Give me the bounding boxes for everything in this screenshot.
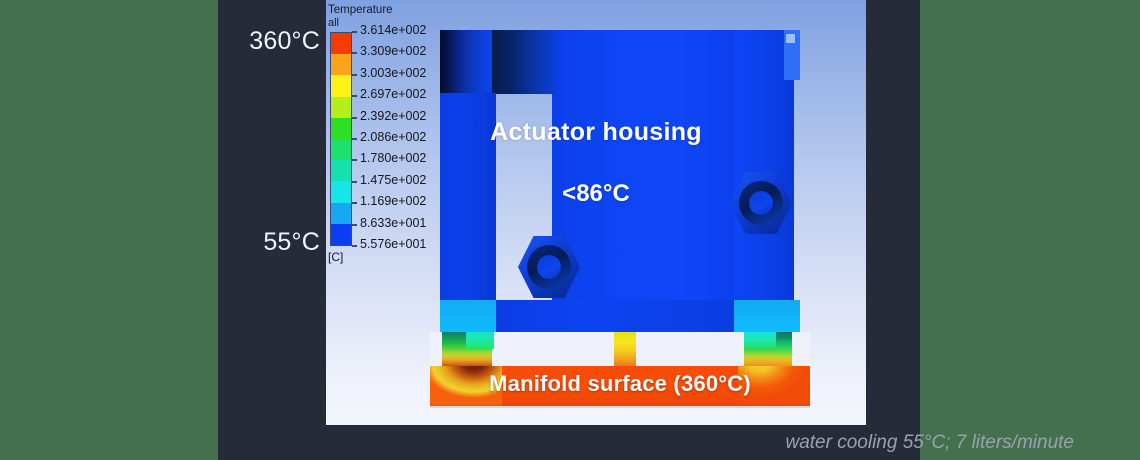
legend-subtitle: all: [328, 17, 339, 29]
colorbar-band-2: [331, 75, 351, 96]
colorbar-tick-label: 3.614e+002: [360, 23, 426, 37]
colorbar-band-0: [331, 33, 351, 54]
standoff-leg-center: [614, 332, 636, 368]
cooling-caption: water cooling 55°C; 7 liters/minute: [785, 432, 1074, 454]
colorbar-band-6: [331, 160, 351, 181]
colorbar-band-9: [331, 224, 351, 245]
colorbar-tick-mark: [352, 159, 357, 161]
colorbar-gradient: [330, 32, 352, 246]
housing-skirt: [496, 300, 734, 332]
colorbar-band-5: [331, 139, 351, 160]
colorbar-tick-4: 2.392e+002: [352, 118, 438, 119]
cfd-render-panel: Actuator housing <86°C Manifold surface …: [326, 0, 866, 425]
housing-foot-right-cyan: [734, 300, 800, 332]
colorbar-tick-mark: [352, 181, 357, 183]
colorbar-tick-label: 3.309e+002: [360, 44, 426, 58]
colorbar-tick-mark: [352, 31, 357, 33]
colorbar-tick-label: 1.475e+002: [360, 173, 426, 187]
legend-title: Temperature: [328, 4, 393, 16]
colorbar-band-8: [331, 203, 351, 224]
colorbar-tick-mark: [352, 95, 357, 97]
slide-canvas: 360°C 55°C: [218, 0, 920, 460]
colorbar-tick-label: 5.576e+001: [360, 237, 426, 251]
colorbar-tick-9: 8.633e+001: [352, 225, 438, 226]
temperature-colorbar-legend: Temperature all 3.614e+0023.309e+0023.00…: [328, 2, 438, 264]
colorbar-band-4: [331, 118, 351, 139]
colorbar-tick-mark: [352, 74, 357, 76]
colorbar-tick-8: 1.169e+002: [352, 203, 438, 204]
manifold-label: Manifold surface (360°C): [430, 371, 810, 397]
colorbar-tick-mark: [352, 52, 357, 54]
colorbar-tick-mark: [352, 138, 357, 140]
colorbar-tick-2: 3.003e+002: [352, 75, 438, 76]
housing-top-shadow: [492, 30, 556, 94]
housing-right-tab-highlight: [786, 34, 795, 43]
housing-foot-left-cyan: [440, 300, 496, 332]
colorbar-tick-0: 3.614e+002: [352, 32, 438, 33]
colorbar-tick-label: 3.003e+002: [360, 66, 426, 80]
standoff-leg-left-cool-top: [466, 332, 494, 349]
colorbar-tick-mark: [352, 224, 357, 226]
hot-temperature-annotation: 360°C: [249, 27, 320, 56]
colorbar-tick-label: 8.633e+001: [360, 216, 426, 230]
colorbar-tick-label: 2.392e+002: [360, 109, 426, 123]
colorbar-band-7: [331, 181, 351, 202]
hex-boss-lower: [518, 236, 580, 298]
colorbar-tick-1: 3.309e+002: [352, 53, 438, 54]
hex-boss-bore: [537, 255, 561, 279]
standoff-leg-right-cool-top: [744, 332, 776, 348]
colorbar-tick-6: 1.780e+002: [352, 160, 438, 161]
colorbar-tick-label: 1.169e+002: [360, 194, 426, 208]
colorbar-band-3: [331, 97, 351, 118]
colorbar-tick-mark: [352, 202, 357, 204]
colorbar-tick-mark: [352, 117, 357, 119]
colorbar-tick-5: 2.086e+002: [352, 139, 438, 140]
colorbar-tick-label: 2.697e+002: [360, 87, 426, 101]
legend-unit-label: [C]: [328, 250, 343, 264]
colorbar-tick-mark: [352, 245, 357, 247]
manifold-shadow: [430, 404, 810, 408]
colorbar-tick-7: 1.475e+002: [352, 182, 438, 183]
colorbar-tick-3: 2.697e+002: [352, 96, 438, 97]
cold-temperature-annotation: 55°C: [263, 228, 320, 257]
colorbar-ticks: 3.614e+0023.309e+0023.003e+0022.697e+002…: [352, 32, 438, 246]
colorbar-tick-label: 1.780e+002: [360, 151, 426, 165]
colorbar-tick-10: 5.576e+001: [352, 246, 438, 247]
colorbar-band-1: [331, 54, 351, 75]
colorbar-tick-label: 2.086e+002: [360, 130, 426, 144]
